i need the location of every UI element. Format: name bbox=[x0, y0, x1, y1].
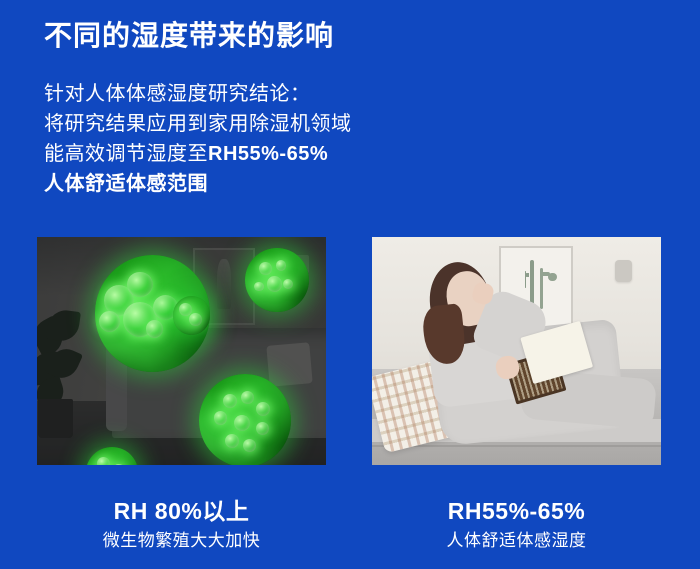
microbe-sphere bbox=[199, 374, 291, 465]
cactus-art bbox=[548, 273, 556, 281]
bright-room-scene bbox=[372, 237, 661, 465]
intro-line-1: 针对人体体感湿度研究结论： bbox=[44, 79, 352, 109]
microbe-bubble bbox=[97, 457, 111, 465]
caption-sub-text: 人体舒适体感湿度 bbox=[372, 529, 661, 553]
panel-image-comfort-humidity bbox=[372, 237, 661, 465]
caption-comfort-humidity: RH55%-65% 人体舒适体感湿度 bbox=[372, 497, 661, 553]
intro-line-4: 人体舒适体感范围 bbox=[44, 169, 352, 199]
caption-sub-text: 微生物繁殖大大加快 bbox=[37, 529, 326, 553]
microbe-bubble bbox=[259, 262, 272, 275]
microbe-bubble bbox=[256, 402, 270, 416]
microbe-bubble bbox=[241, 391, 254, 404]
dark-room-scene bbox=[37, 237, 326, 465]
panel-images bbox=[0, 237, 700, 465]
caption-main-text: RH 80%以上 bbox=[37, 497, 326, 525]
microbe-sphere bbox=[245, 248, 309, 312]
microbe-sphere bbox=[173, 296, 211, 335]
panel-image-high-humidity bbox=[37, 237, 326, 465]
wall-sensor-icon bbox=[615, 260, 632, 282]
microbe-core bbox=[86, 447, 138, 465]
intro-line-3-text: 能高效调节湿度至 bbox=[44, 143, 208, 165]
microbe-bubble bbox=[234, 415, 250, 431]
microbe-bubble bbox=[276, 260, 287, 271]
promo-slide: 不同的湿度带来的影响 针对人体体感湿度研究结论： 将研究结果应用到家用除湿机领域… bbox=[0, 0, 700, 569]
intro-line-3: 能高效调节湿度至RH55%-65% bbox=[44, 139, 352, 169]
intro-line-3-highlight: RH55%-65% bbox=[208, 143, 328, 165]
intro-paragraph: 针对人体体感湿度研究结论： 将研究结果应用到家用除湿机领域 能高效调节湿度至RH… bbox=[44, 79, 352, 199]
microbe-bubble bbox=[146, 320, 163, 337]
caption-main-text: RH55%-65% bbox=[372, 497, 661, 525]
page-title: 不同的湿度带来的影响 bbox=[44, 19, 334, 53]
microbe-bubble bbox=[267, 276, 282, 291]
microbe-sphere bbox=[86, 447, 138, 465]
microbe-bubble bbox=[127, 272, 152, 298]
microbe-bubble bbox=[223, 394, 237, 408]
microbe-bubble bbox=[225, 434, 239, 448]
caption-high-humidity: RH 80%以上 微生物繁殖大大加快 bbox=[37, 497, 326, 553]
microbe-bubble bbox=[254, 282, 264, 292]
cactus-art bbox=[540, 268, 543, 309]
intro-line-2: 将研究结果应用到家用除湿机领域 bbox=[44, 109, 352, 139]
